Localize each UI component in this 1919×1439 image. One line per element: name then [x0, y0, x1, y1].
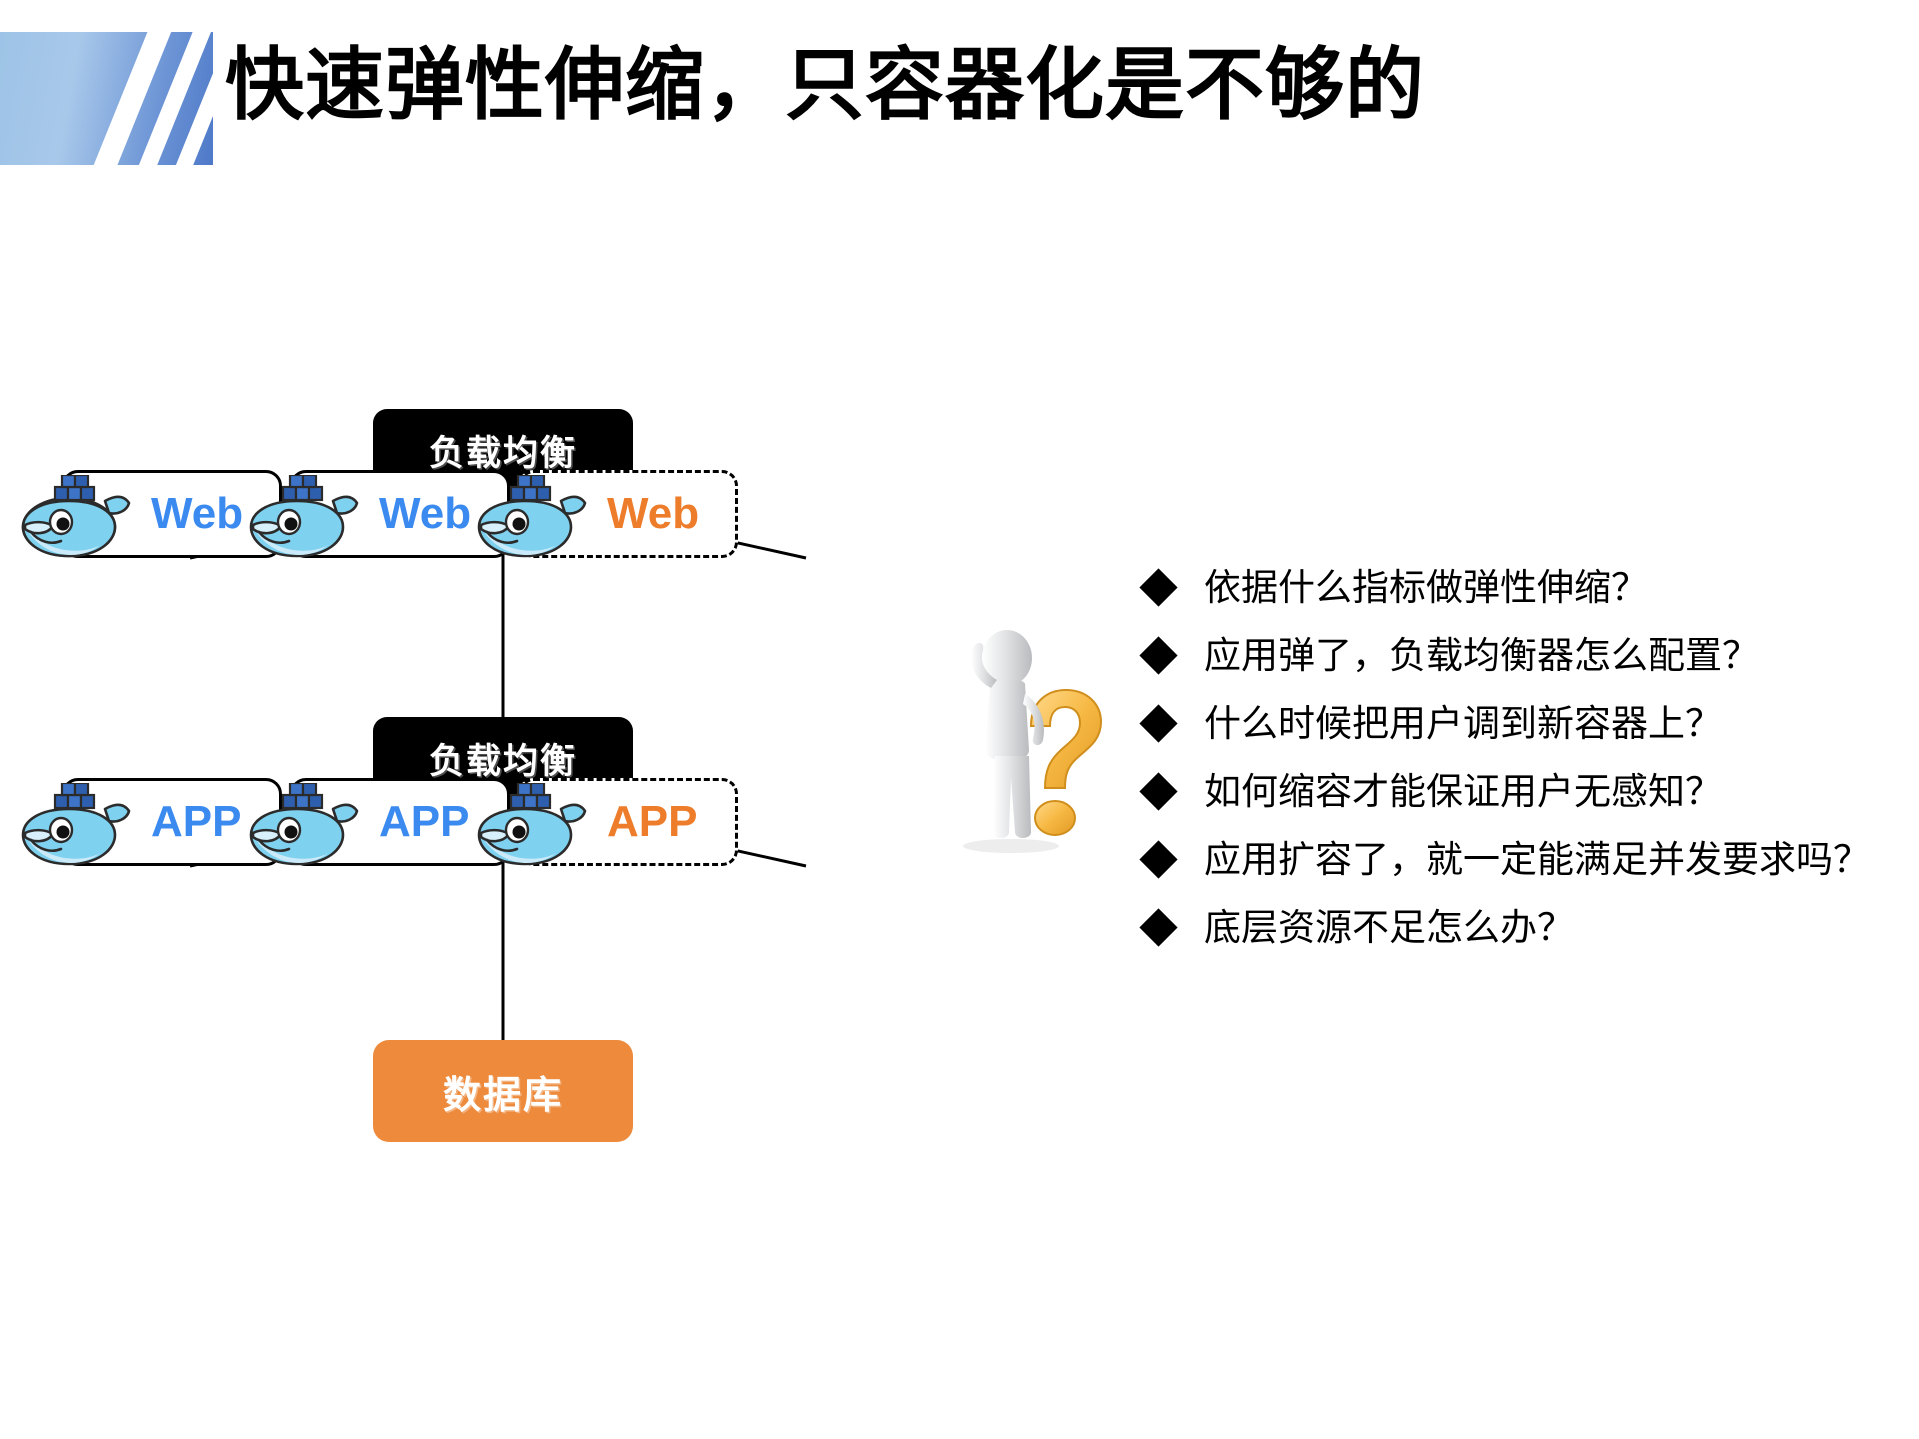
list-item: 应用弹了，负载均衡器怎么配置？ [1145, 633, 1905, 678]
docker-whale-icon [473, 783, 605, 867]
docker-whale-icon [17, 475, 149, 559]
diamond-bullet-icon [1139, 636, 1177, 674]
diamond-bullet-icon [1139, 568, 1177, 606]
page-title: 快速弹性伸缩，只容器化是不够的 [225, 30, 1425, 140]
web-node-3-scaled[interactable]: Web [518, 470, 738, 558]
app-node-label: APP [607, 797, 697, 847]
architecture-diagram: 负载均衡 [0, 390, 960, 1210]
question-text: 应用扩容了，就一定能满足并发要求吗？ [1204, 837, 1870, 882]
docker-whale-icon [17, 783, 149, 867]
question-text: 如何缩容才能保证用户无感知？ [1204, 769, 1722, 814]
diamond-bullet-icon [1139, 908, 1177, 946]
list-item: 应用扩容了，就一定能满足并发要求吗？ [1145, 837, 1905, 882]
question-text: 什么时候把用户调到新容器上？ [1204, 701, 1722, 746]
slide-canvas: 快速弹性伸缩，只容器化是不够的 负载均衡 [0, 0, 1919, 1439]
diamond-bullet-icon [1139, 704, 1177, 742]
question-text: 底层资源不足怎么办？ [1204, 905, 1574, 950]
question-text: 应用弹了，负载均衡器怎么配置？ [1204, 633, 1759, 678]
thinking-person-question-mark-icon [935, 618, 1150, 853]
list-item: 什么时候把用户调到新容器上？ [1145, 701, 1905, 746]
app-node-label: APP [379, 797, 469, 847]
docker-whale-icon [245, 783, 377, 867]
list-item: 如何缩容才能保证用户无感知？ [1145, 769, 1905, 814]
docker-whale-icon [473, 475, 605, 559]
app-node-label: APP [151, 797, 241, 847]
diamond-bullet-icon [1139, 840, 1177, 878]
web-node-label: Web [151, 489, 243, 539]
web-node-label: Web [607, 489, 699, 539]
list-item: 依据什么指标做弹性伸缩？ [1145, 565, 1905, 610]
question-bullet-list: 依据什么指标做弹性伸缩？ 应用弹了，负载均衡器怎么配置？ 什么时候把用户调到新容… [1145, 565, 1905, 973]
list-item: 底层资源不足怎么办？ [1145, 905, 1905, 950]
web-node-label: Web [379, 489, 471, 539]
docker-whale-icon [245, 475, 377, 559]
database-node[interactable]: 数据库 [373, 1040, 633, 1142]
question-text: 依据什么指标做弹性伸缩？ [1204, 565, 1648, 610]
header-decoration-band [0, 32, 213, 165]
slide-header: 快速弹性伸缩，只容器化是不够的 [0, 0, 1919, 175]
app-node-3-scaled[interactable]: APP [518, 778, 738, 866]
diamond-bullet-icon [1139, 772, 1177, 810]
